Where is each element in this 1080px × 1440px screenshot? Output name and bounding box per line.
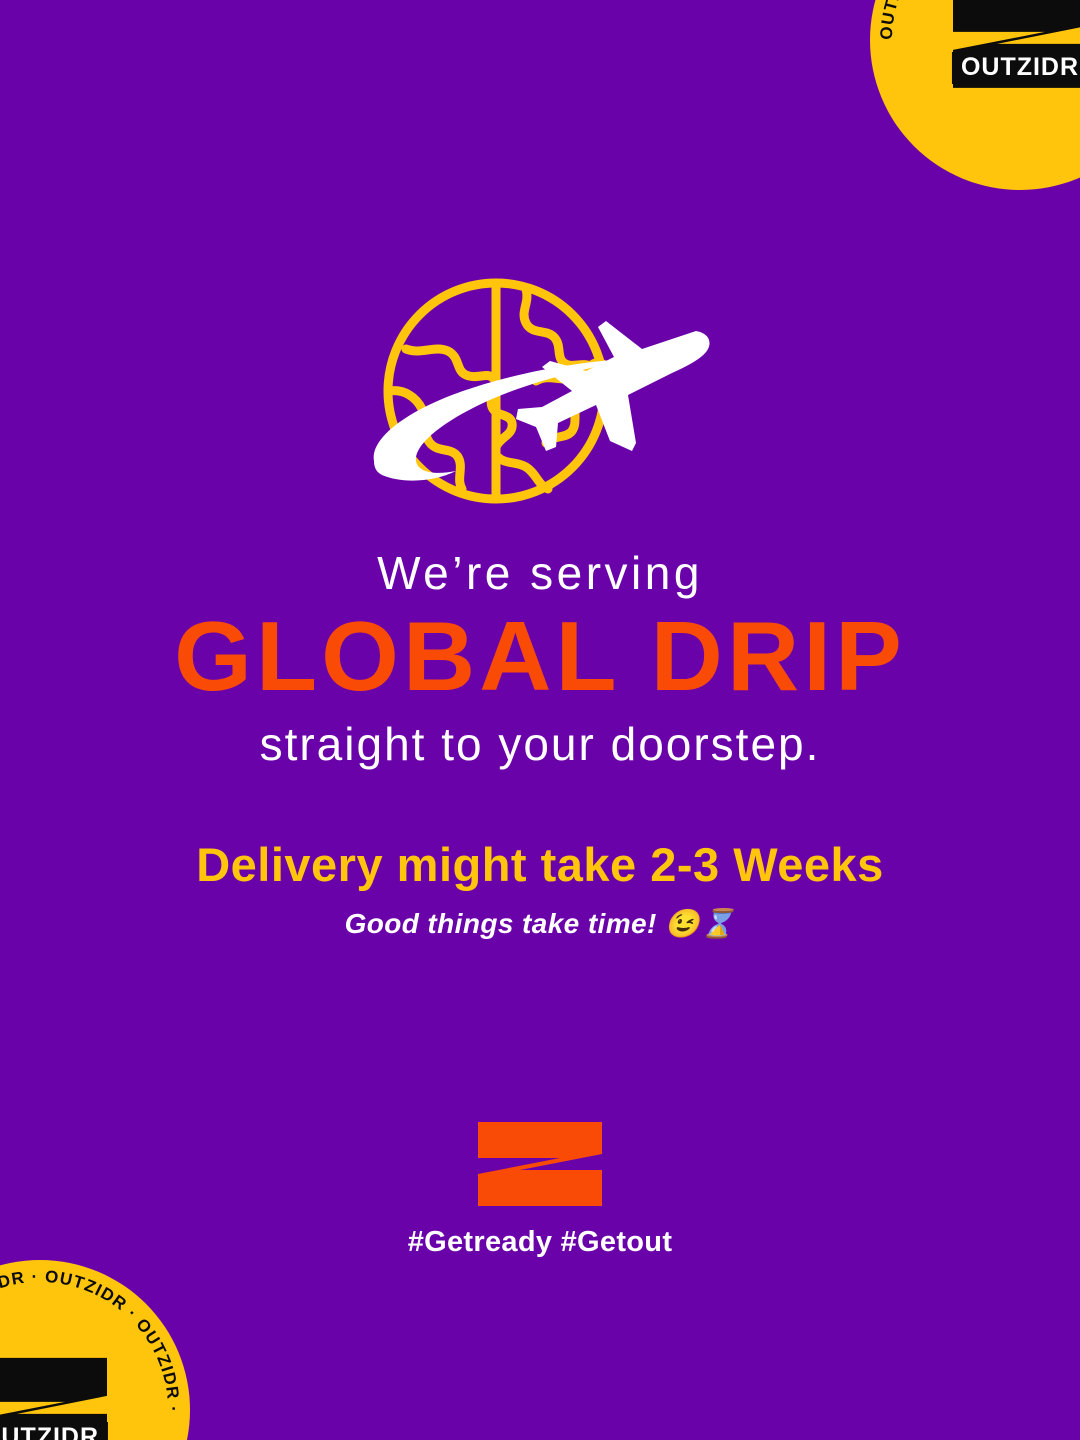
brand-z-logo-icon bbox=[476, 1120, 604, 1208]
badge-wordmark-top-right: OUTZIDR bbox=[952, 52, 1080, 84]
footer-brand-block: #Getready #Getout bbox=[0, 1120, 1080, 1259]
brand-badge-top-right: OUTZIDR · OUTZIDR · OUTZIDR · OUTZIDR · … bbox=[870, 0, 1080, 190]
copy-block: We’re serving GLOBAL DRIP straight to yo… bbox=[0, 548, 1080, 940]
hashtag-text: #Getready #Getout bbox=[0, 1226, 1080, 1259]
subtitle-text: straight to your doorstep. bbox=[0, 719, 1080, 770]
page-title: GLOBAL DRIP bbox=[0, 607, 1080, 705]
badge-wordmark-bottom-left: OUTZIDR bbox=[0, 1422, 108, 1440]
eyebrow-text: We’re serving bbox=[0, 548, 1080, 599]
poster-canvas: OUTZIDR · OUTZIDR · OUTZIDR · OUTZIDR · … bbox=[0, 0, 1080, 1440]
brand-badge-bottom-left: OUTZIDR · OUTZIDR · OUTZIDR · OUTZIDR · … bbox=[0, 1260, 190, 1440]
delivery-subnote: Good things take time! 😉⌛ bbox=[0, 907, 1080, 941]
delivery-notice: Delivery might take 2-3 Weeks bbox=[0, 839, 1080, 891]
globe-airplane-icon bbox=[360, 275, 720, 515]
